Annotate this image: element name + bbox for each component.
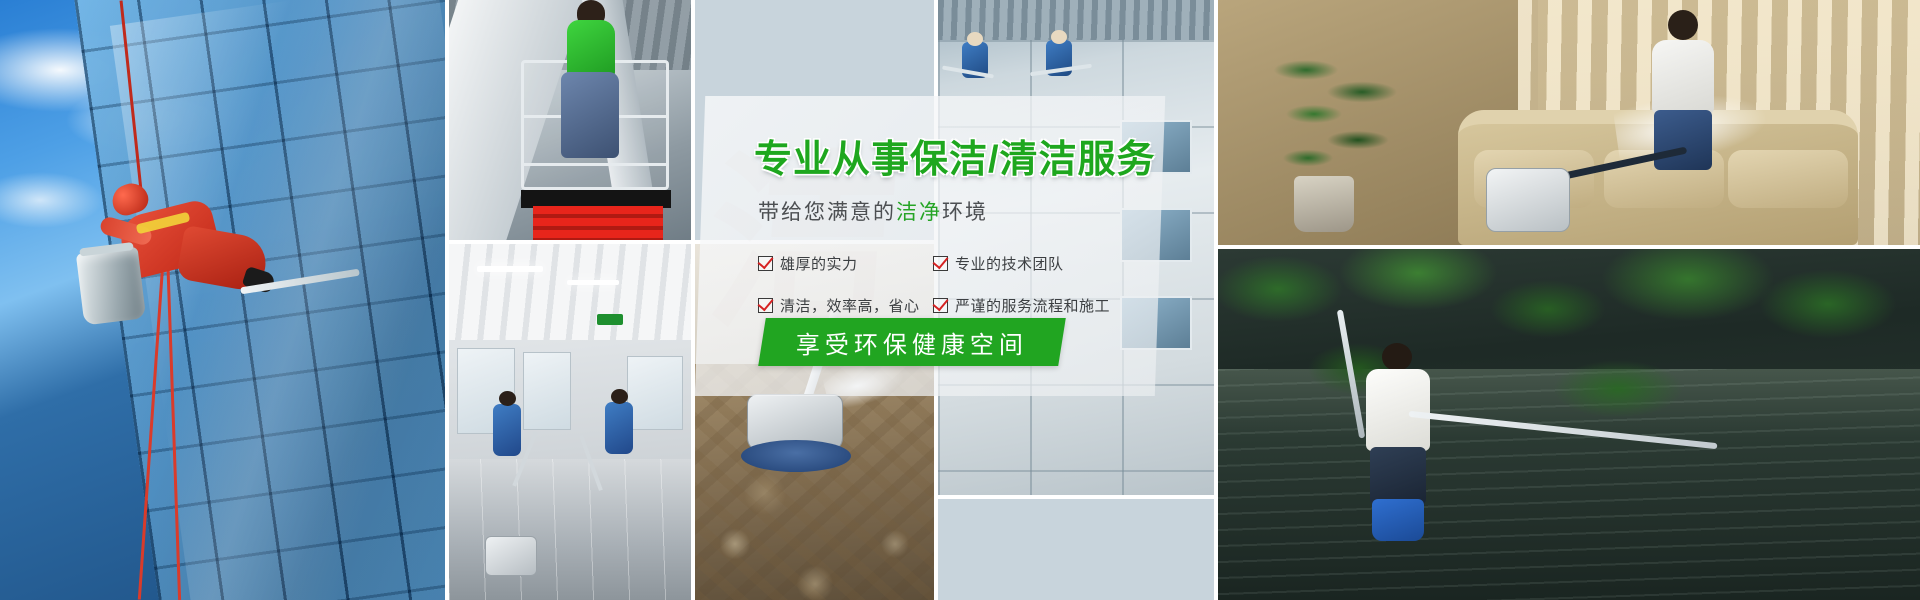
photo-outdoor-pond-water-cleaning: [1218, 249, 1920, 600]
garden-foliage: [1218, 249, 1920, 439]
promo-banner: 洁 专业从事保洁/清洁服务 带给您满意的洁净环境 雄厚的实力 专业的技术团队 清…: [0, 0, 1920, 600]
photo-gondola-platform-window-cleaning: [449, 0, 691, 240]
corridor-ceiling: [449, 244, 691, 340]
corridor-window-2: [523, 352, 571, 430]
water-bucket: [76, 246, 146, 325]
feature-item-efficiency: 清洁，效率高，省心: [758, 295, 933, 316]
feature-label: 严谨的服务流程和施工: [955, 295, 1110, 316]
corridor-window-3: [627, 356, 683, 430]
plant-pot: [1294, 176, 1354, 232]
cta-button[interactable]: 享受环保健康空间: [758, 318, 1066, 366]
scissor-lift-red: [533, 206, 663, 240]
photo-upholstery-sofa-extraction-cleaning: [1218, 0, 1920, 245]
potted-plant-foliage: [1266, 40, 1406, 190]
photo-corridor-floor-mopping: [449, 244, 691, 600]
corridor-floor: [449, 459, 691, 600]
seam-vertical-2: [691, 0, 695, 600]
checkbox-checked-icon: [933, 256, 948, 271]
seam-vertical-4: [1214, 0, 1218, 600]
banner-headline: 专业从事保洁/清洁服务: [754, 140, 1156, 182]
feature-item-process: 严谨的服务流程和施工: [933, 295, 1170, 316]
gondola-worker-shirt: [567, 20, 615, 78]
pond-cleaning-worker: [1358, 359, 1444, 539]
floor-scrubber-machine: [485, 536, 537, 576]
seam-horizontal-2: [938, 495, 1214, 499]
feature-label: 雄厚的实力: [780, 253, 858, 274]
extractor-machine: [1486, 168, 1570, 232]
feature-label: 专业的技术团队: [955, 253, 1064, 274]
feature-label: 清洁，效率高，省心: [780, 295, 920, 316]
feature-item-strength: 雄厚的实力: [758, 253, 933, 274]
banner-subtitle: 带给您满意的洁净环境: [758, 196, 988, 226]
checkbox-checked-icon: [758, 298, 773, 313]
ceiling-light-2: [567, 280, 619, 285]
checkbox-checked-icon: [758, 256, 773, 271]
gondola-worker-jeans: [561, 72, 619, 158]
polisher-pad: [741, 440, 851, 472]
feature-item-team: 专业的技术团队: [933, 253, 1170, 274]
cta-button-label: 享受环保健康空间: [796, 325, 1028, 360]
subtitle-suffix: 环境: [942, 201, 988, 224]
photo-rope-access-glass-facade-cleaning: [0, 0, 445, 600]
subtitle-prefix: 带给您满意的: [758, 201, 896, 224]
seam-horizontal-3: [1218, 245, 1920, 249]
upholstery-technician: [1648, 10, 1718, 160]
checkbox-checked-icon: [933, 298, 948, 313]
exit-sign: [597, 314, 623, 325]
banner-content: 专业从事保洁/清洁服务 带给您满意的洁净环境 雄厚的实力 专业的技术团队 清洁，…: [742, 118, 1172, 408]
ceiling-light-1: [477, 266, 543, 272]
feature-list: 雄厚的实力 专业的技术团队 清洁，效率高，省心 严谨的服务流程和施工: [758, 242, 1170, 326]
seam-vertical-1: [445, 0, 449, 600]
sofa-cushion-3: [1728, 150, 1848, 208]
subtitle-highlight: 洁净: [896, 201, 942, 224]
